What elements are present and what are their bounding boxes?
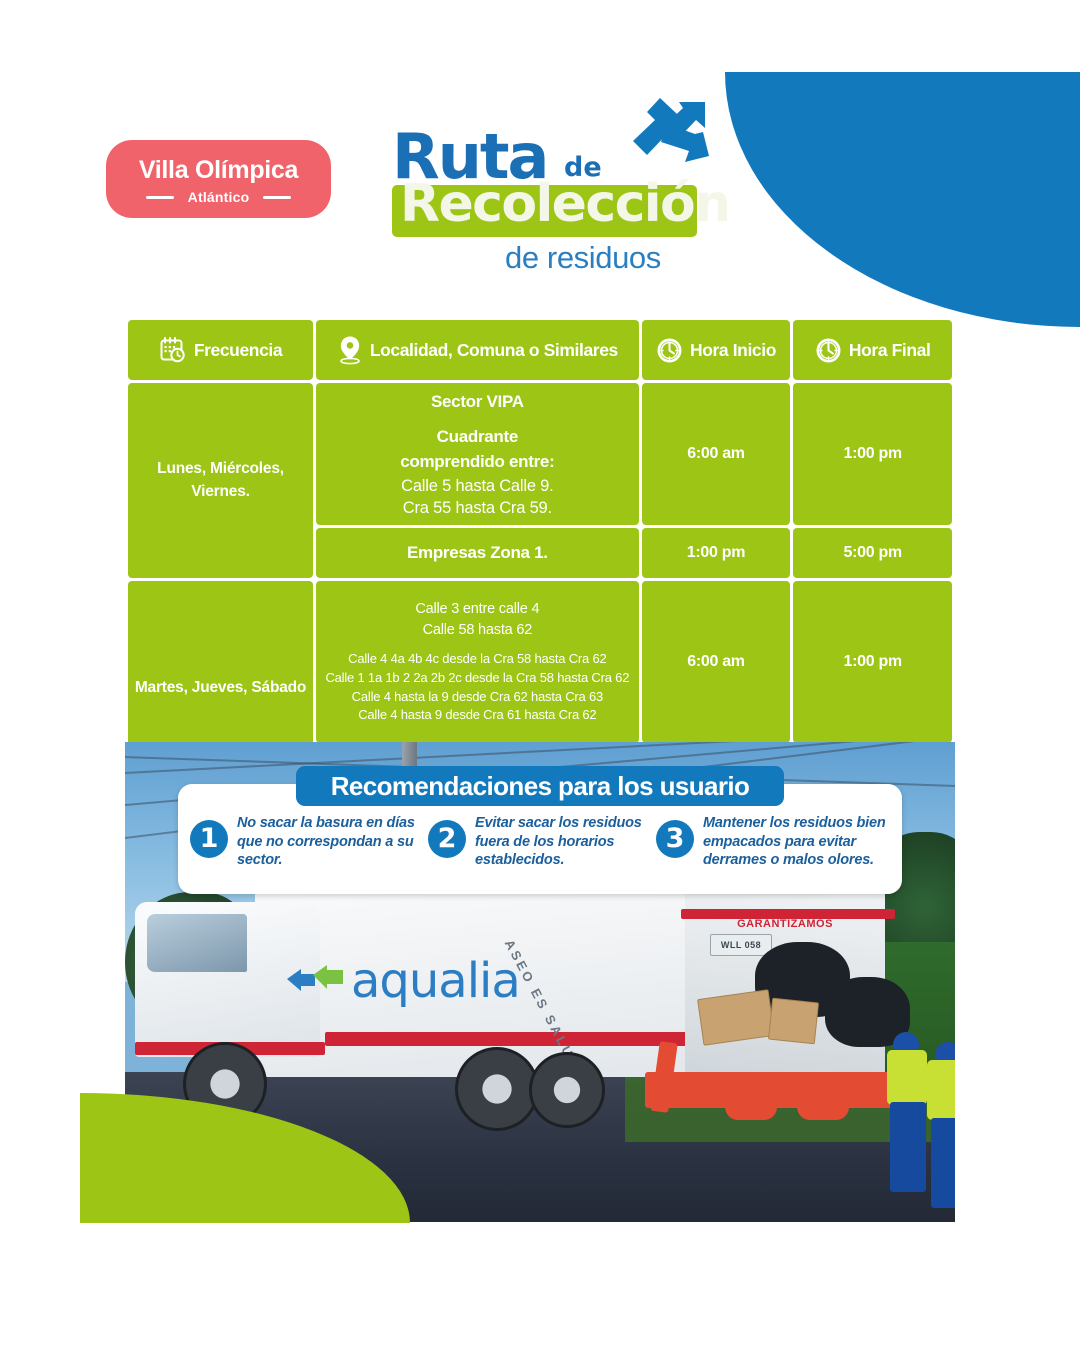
recommendation-number: 2: [428, 820, 466, 858]
clock-icon: [815, 337, 842, 364]
badge-region: Atlántico: [188, 190, 250, 204]
recommendation-number: 1: [190, 820, 228, 858]
badge-subtitle-row: Atlántico: [146, 190, 292, 204]
table-row: Martes, Jueves, Sábado Calle 3 entre cal…: [128, 581, 952, 743]
header-cell-frecuencia: Frecuencia: [128, 320, 313, 380]
table-header-row: Frecuencia Localidad, Comuna o Similares: [128, 320, 952, 380]
truck-license-plate: WLL 058: [710, 934, 772, 956]
truck-rear-label: GARANTIZAMOS: [725, 916, 845, 932]
table-body: Lunes, Miércoles, Viernes. Sector VIPA C…: [128, 383, 952, 796]
header-label-hora-inicio: Hora Inicio: [690, 340, 776, 361]
recommendations-list: 1 No sacar la basura en días que no corr…: [190, 812, 890, 890]
badge-dash-left-icon: [146, 196, 174, 199]
truck-lift-hook: [725, 1094, 777, 1120]
table-row: Lunes, Miércoles, Viernes. Sector VIPA C…: [128, 383, 952, 525]
sanitation-worker: [925, 1042, 955, 1212]
aqualia-arrows-icon: [285, 961, 347, 1001]
logo-word-recoleccion: Recolección: [400, 178, 730, 230]
header-label-hora-final: Hora Final: [849, 340, 931, 361]
badge-name: Villa Olímpica: [139, 158, 298, 183]
cell-location-1a: Sector VIPA Cuadrante comprendido entre:…: [316, 383, 639, 525]
recycle-arrows-icon: [605, 98, 715, 178]
logo-subtitle: de residuos: [505, 242, 661, 273]
location-line: Calle 3 entre calle 4: [320, 599, 635, 620]
location-pin-icon: [337, 335, 363, 365]
cell-start-1b: 1:00 pm: [642, 528, 791, 578]
location-line: Sector VIPA: [320, 389, 635, 415]
cell-start-1a: 6:00 am: [642, 383, 791, 525]
header-cell-localidad: Localidad, Comuna o Similares: [316, 320, 639, 380]
calendar-clock-icon: [159, 336, 187, 364]
cell-days-group-1: Lunes, Miércoles, Viernes.: [128, 383, 313, 578]
location-line: Calle 1 1a 1b 2 2a 2b 2c desde la Cra 58…: [320, 669, 635, 688]
cardboard-box: [768, 998, 819, 1045]
cell-end-2a: 1:00 pm: [793, 581, 952, 743]
villa-olimpica-badge: Villa Olímpica Atlántico: [106, 140, 331, 218]
truck-wheel: [529, 1052, 605, 1128]
cell-end-1a: 1:00 pm: [793, 383, 952, 525]
recommendations-title: Recomendaciones para los usuario: [296, 766, 784, 806]
location-line: Cuadrante: [320, 424, 635, 450]
cardboard-box: [697, 989, 775, 1046]
ruta-recoleccion-logo: Ruta de Recolección de residuos: [392, 130, 712, 305]
cell-end-1b: 5:00 pm: [793, 528, 952, 578]
aqualia-logo: aqualia: [285, 957, 520, 1005]
table-head: Frecuencia Localidad, Comuna o Similares: [128, 320, 952, 380]
cell-start-2a: 6:00 am: [642, 581, 791, 743]
header-cell-hora-inicio: Hora Inicio: [642, 320, 791, 380]
location-line: Calle 4 4a 4b 4c desde la Cra 58 hasta C…: [320, 650, 635, 669]
recommendation-number: 3: [656, 820, 694, 858]
badge-dash-right-icon: [263, 196, 291, 199]
header-label-localidad: Localidad, Comuna o Similares: [370, 340, 618, 361]
location-line: Calle 58 hasta 62: [320, 620, 635, 641]
recommendation-text: No sacar la basura en días que no corres…: [237, 812, 428, 870]
truck-windshield: [147, 914, 247, 972]
truck-red-stripe: [325, 1032, 715, 1046]
location-line: Calle 5 hasta Calle 9.: [320, 475, 635, 497]
location-line: Calle 4 hasta la 9 desde Cra 62 hasta Cr…: [320, 688, 635, 707]
list-item: 2 Evitar sacar los residuos fuera de los…: [428, 812, 656, 890]
location-line: comprendido entre:: [320, 449, 635, 475]
truck-wheel: [455, 1047, 539, 1131]
recommendation-text: Mantener los residuos bien empacados par…: [703, 812, 890, 870]
collection-schedule-table: Frecuencia Localidad, Comuna o Similares: [125, 317, 955, 799]
poster-header: Villa Olímpica Atlántico Ruta de Recolec…: [0, 110, 1080, 300]
recommendation-text: Evitar sacar los residuos fuera de los h…: [475, 812, 656, 870]
list-item: 1 No sacar la basura en días que no corr…: [190, 812, 428, 890]
header-cell-hora-final: Hora Final: [793, 320, 952, 380]
aqualia-wordmark: aqualia: [351, 957, 520, 1005]
location-line: Cra 55 hasta Cra 59.: [320, 497, 635, 519]
truck-lift-hook: [797, 1094, 849, 1120]
cell-location-2a: Calle 3 entre calle 4 Calle 58 hasta 62 …: [316, 581, 639, 743]
list-item: 3 Mantener los residuos bien empacados p…: [656, 812, 890, 890]
header-label-frecuencia: Frecuencia: [194, 340, 282, 361]
location-line: Calle 4 hasta 9 desde Cra 61 hasta Cra 6…: [320, 706, 635, 725]
cell-location-1b: Empresas Zona 1.: [316, 528, 639, 578]
clock-icon: [656, 337, 683, 364]
